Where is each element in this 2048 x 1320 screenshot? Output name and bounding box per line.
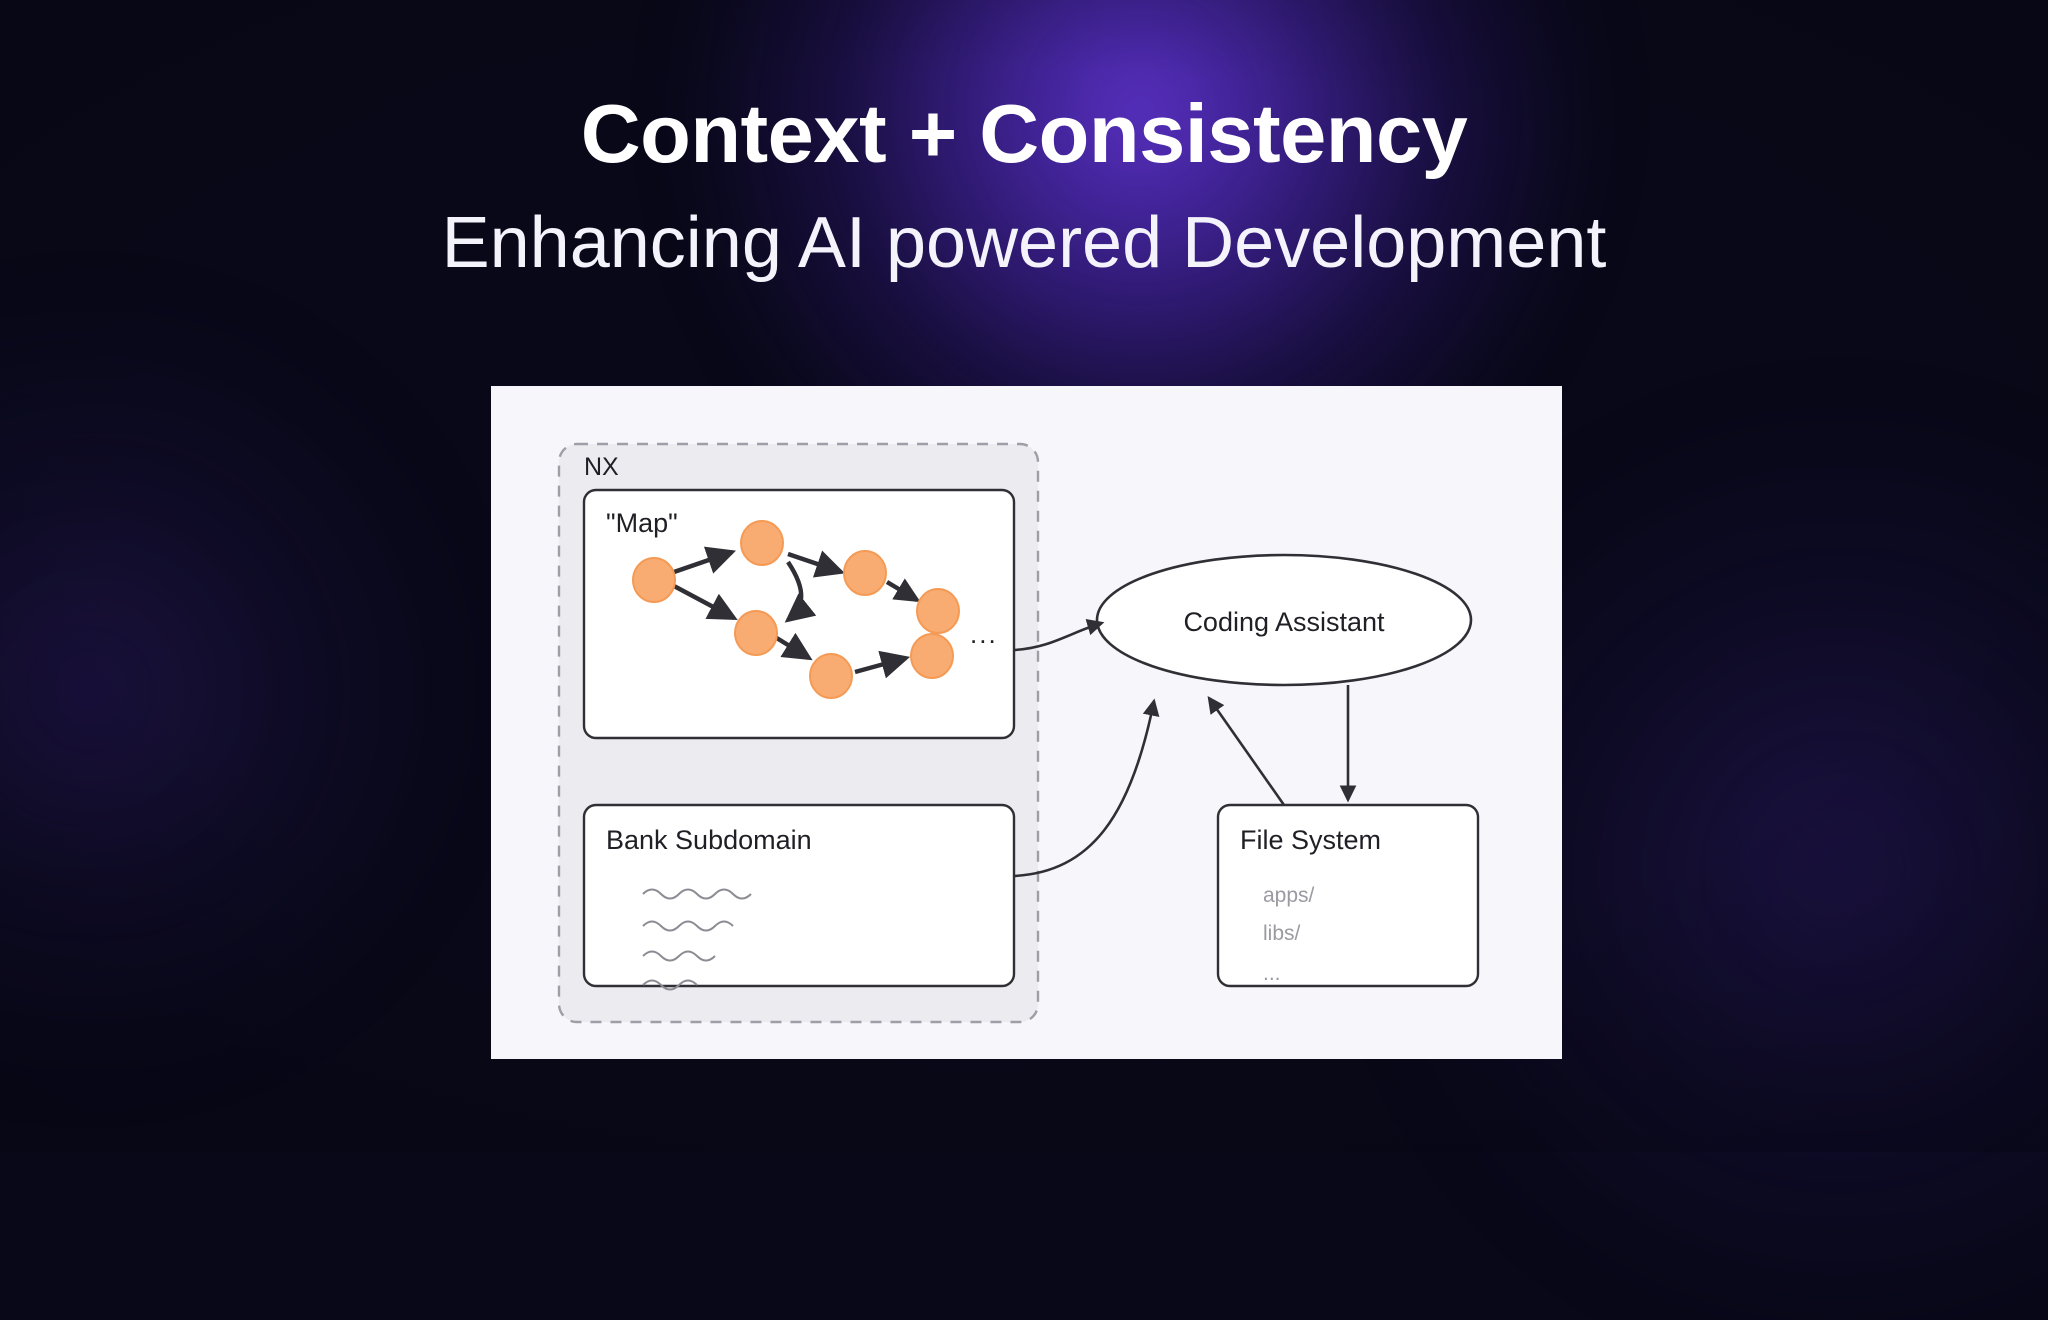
file-system-entry: ... xyxy=(1263,962,1281,985)
graph-node xyxy=(810,654,852,698)
file-system-card[interactable]: File System apps/ libs/ ... xyxy=(1218,805,1478,986)
coding-assistant-node[interactable]: Coding Assistant xyxy=(1097,555,1471,685)
file-system-entry: libs/ xyxy=(1263,922,1301,945)
page-subtitle: Enhancing AI powered Development xyxy=(0,207,2048,279)
map-graph-ellipsis: ... xyxy=(970,619,998,649)
page-title: Context + Consistency xyxy=(0,92,2048,175)
map-card-label: "Map" xyxy=(606,508,678,538)
diagram-panel: NX "Map" ... Bank Subdomain xyxy=(491,386,1562,1059)
bank-subdomain-card[interactable]: Bank Subdomain xyxy=(584,805,1014,990)
map-card[interactable]: "Map" ... xyxy=(584,490,1014,738)
title-block: Context + Consistency Enhancing AI power… xyxy=(0,0,2048,279)
graph-node xyxy=(735,611,777,655)
graph-node xyxy=(911,634,953,678)
graph-node xyxy=(741,521,783,565)
bank-subdomain-label: Bank Subdomain xyxy=(606,825,812,855)
coding-assistant-label: Coding Assistant xyxy=(1183,607,1385,637)
architecture-diagram: NX "Map" ... Bank Subdomain xyxy=(491,386,1562,1059)
edge-filesystem-to-assistant xyxy=(1209,698,1284,805)
graph-node xyxy=(917,589,959,633)
graph-node xyxy=(844,551,886,595)
background-glow-left xyxy=(0,300,480,1080)
nx-group-label: NX xyxy=(584,453,619,481)
file-system-label: File System xyxy=(1240,825,1381,855)
file-system-entry: apps/ xyxy=(1263,884,1315,907)
graph-node xyxy=(633,558,675,602)
